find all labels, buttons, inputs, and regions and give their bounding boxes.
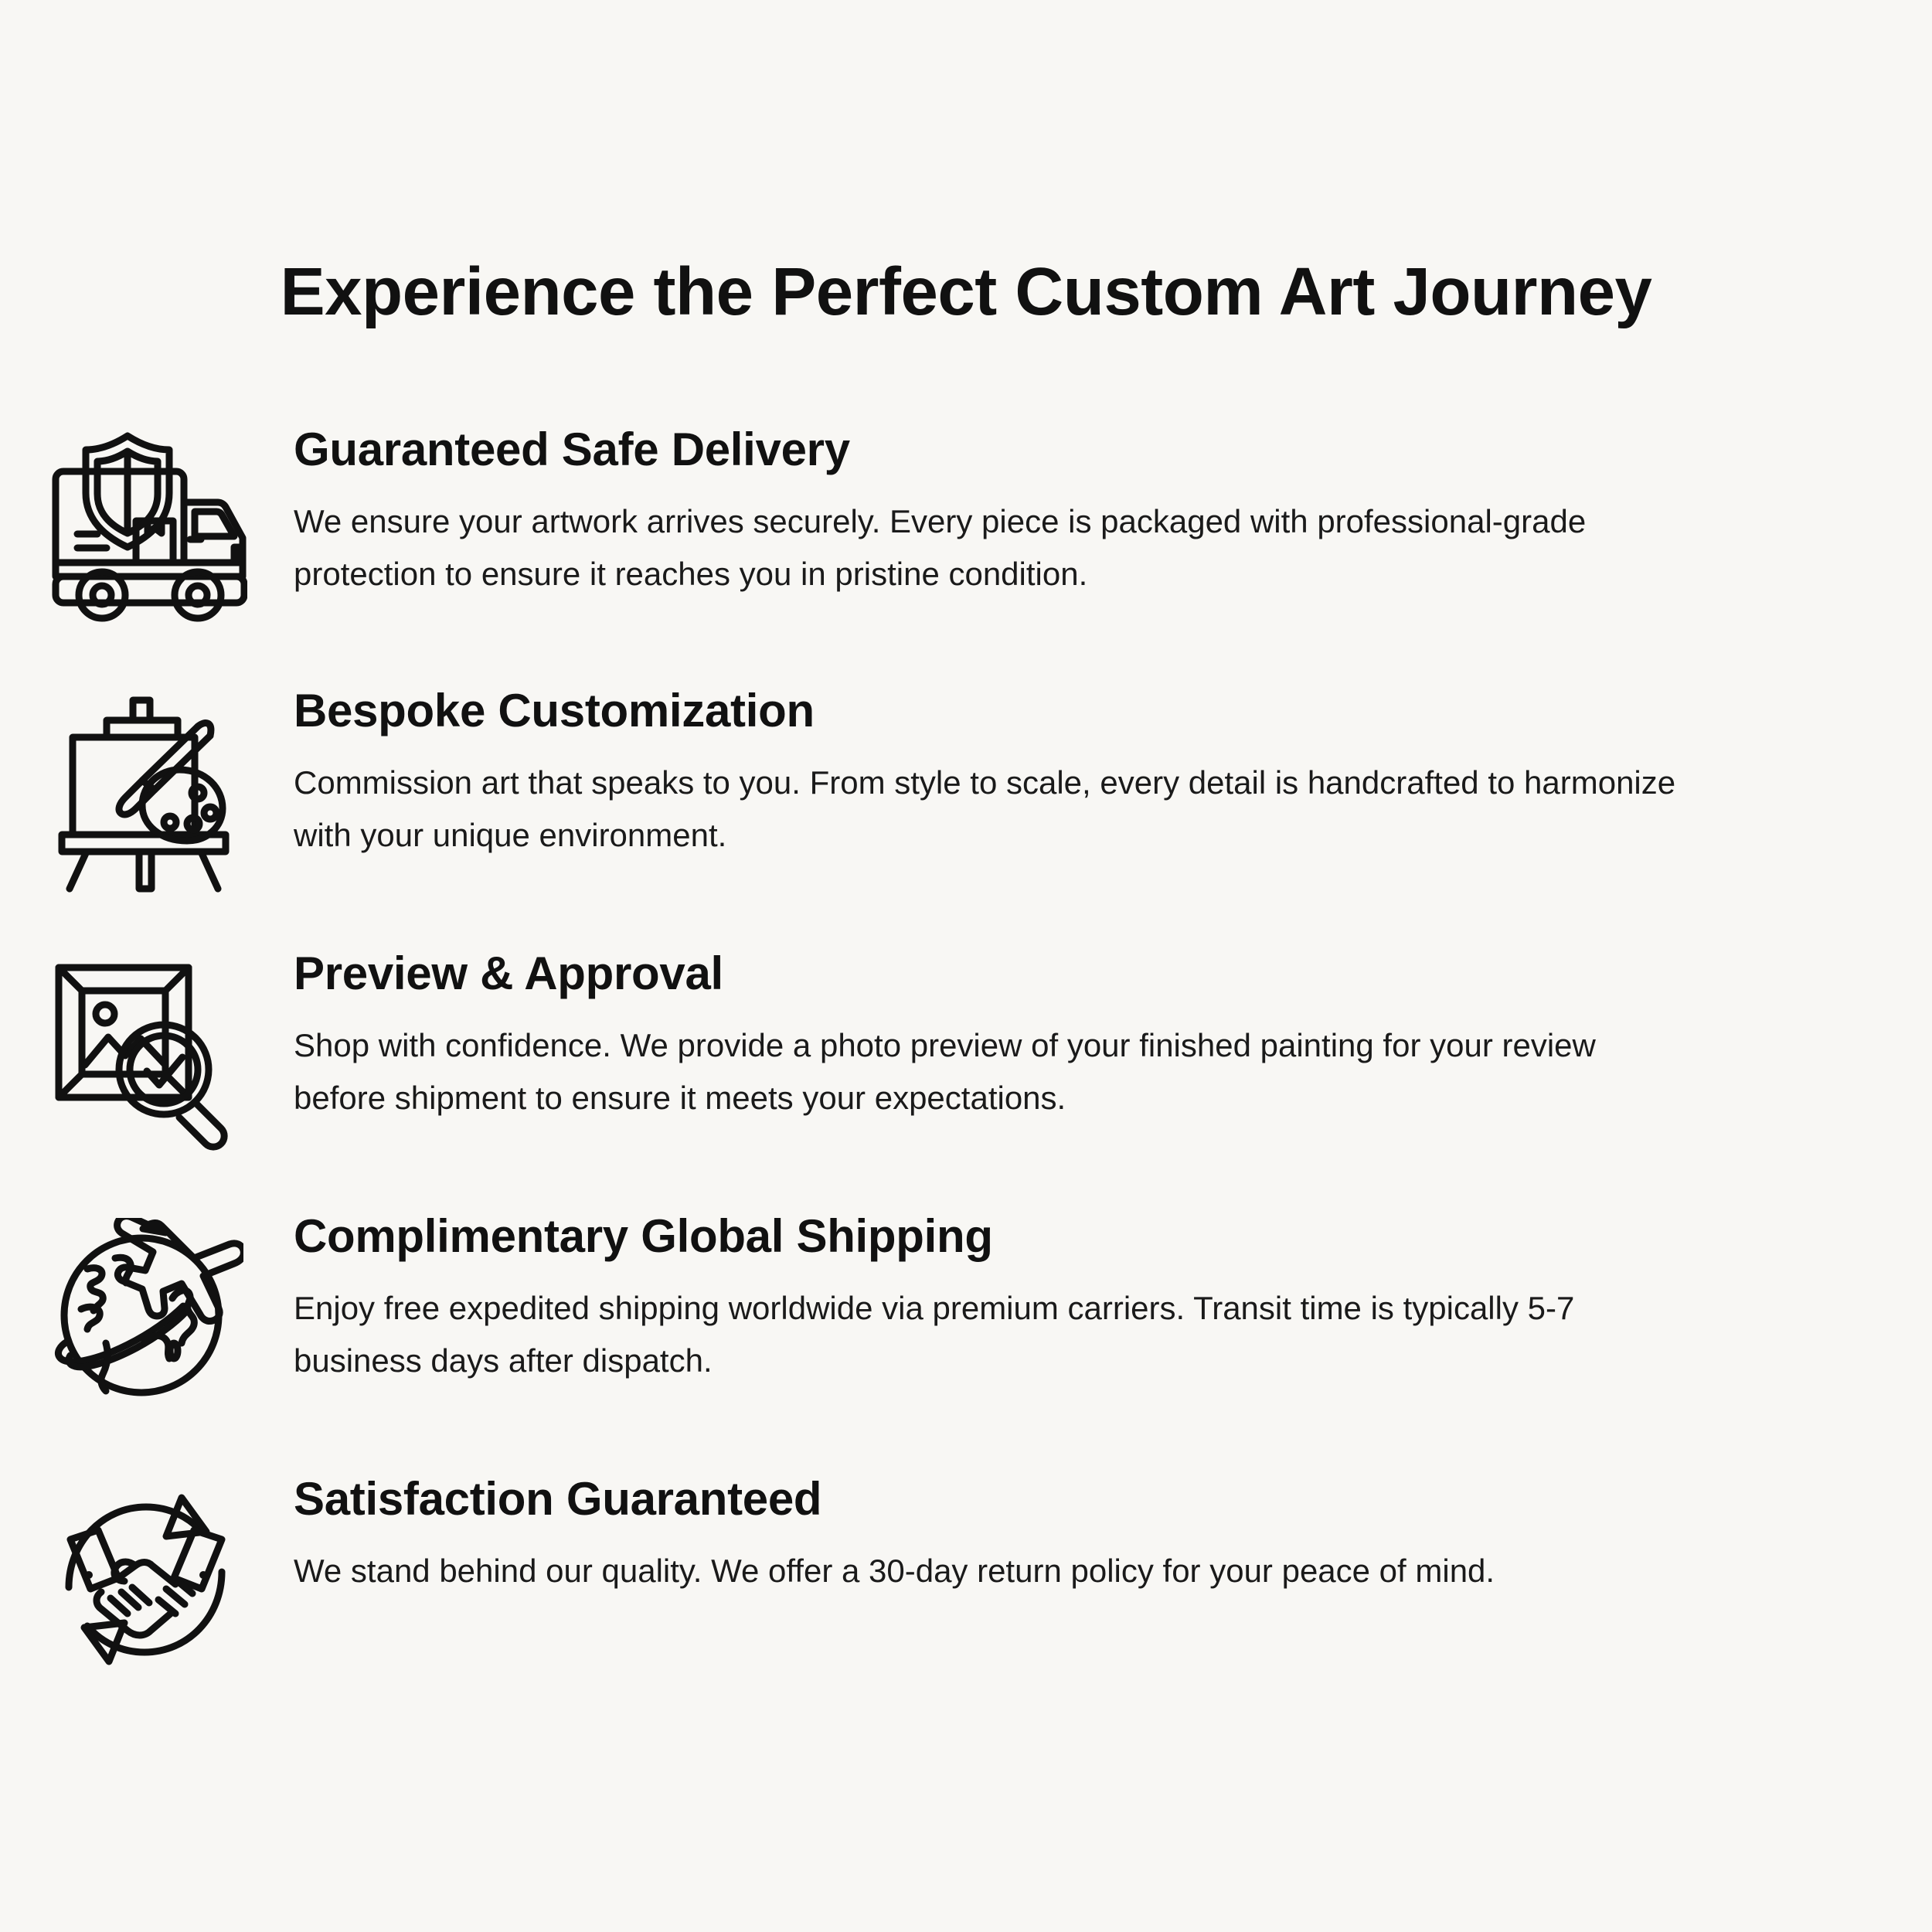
easel-palette-brush-icon: [46, 692, 247, 893]
globe-airplane-icon: [50, 1218, 243, 1411]
feature-description: We ensure your artwork arrives securely.…: [294, 495, 1685, 600]
feature-item-preview-approval: Preview & Approval Shop with confidence.…: [0, 947, 1932, 1210]
feature-icon-wrapper: [0, 1210, 294, 1411]
feature-text-wrapper: Bespoke Customization Commission art tha…: [294, 685, 1932, 862]
feature-heading: Satisfaction Guaranteed: [294, 1473, 1839, 1525]
feature-text-wrapper: Satisfaction Guaranteed We stand behind …: [294, 1473, 1932, 1597]
feature-heading: Bespoke Customization: [294, 685, 1839, 736]
feature-description: Shop with confidence. We provide a photo…: [294, 1019, 1685, 1124]
feature-item-satisfaction-guaranteed: Satisfaction Guaranteed We stand behind …: [0, 1473, 1932, 1705]
feature-item-global-shipping: Complimentary Global Shipping Enjoy free…: [0, 1210, 1932, 1473]
feature-benefits-panel: Experience the Perfect Custom Art Journe…: [0, 0, 1932, 1932]
handshake-return-arrows-icon: [50, 1481, 243, 1674]
feature-description: We stand behind our quality. We offer a …: [294, 1545, 1839, 1597]
feature-icon-wrapper: [0, 1473, 294, 1674]
feature-heading: Guaranteed Safe Delivery: [294, 423, 1839, 475]
framed-picture-magnifier-check-icon: [46, 955, 247, 1156]
shield-truck-icon: [46, 431, 247, 624]
feature-item-bespoke-customization: Bespoke Customization Commission art tha…: [0, 685, 1932, 947]
page-title: Experience the Perfect Custom Art Journe…: [0, 255, 1932, 329]
feature-icon-wrapper: [0, 947, 294, 1156]
feature-heading: Complimentary Global Shipping: [294, 1210, 1839, 1262]
feature-text-wrapper: Preview & Approval Shop with confidence.…: [294, 947, 1932, 1124]
feature-item-safe-delivery: Guaranteed Safe Delivery We ensure your …: [0, 423, 1932, 685]
feature-list: Guaranteed Safe Delivery We ensure your …: [0, 423, 1932, 1705]
feature-text-wrapper: Guaranteed Safe Delivery We ensure your …: [294, 423, 1932, 600]
feature-description: Commission art that speaks to you. From …: [294, 757, 1685, 862]
feature-description: Enjoy free expedited shipping worldwide …: [294, 1282, 1685, 1387]
feature-icon-wrapper: [0, 685, 294, 893]
feature-text-wrapper: Complimentary Global Shipping Enjoy free…: [294, 1210, 1932, 1387]
feature-icon-wrapper: [0, 423, 294, 624]
feature-heading: Preview & Approval: [294, 947, 1839, 999]
